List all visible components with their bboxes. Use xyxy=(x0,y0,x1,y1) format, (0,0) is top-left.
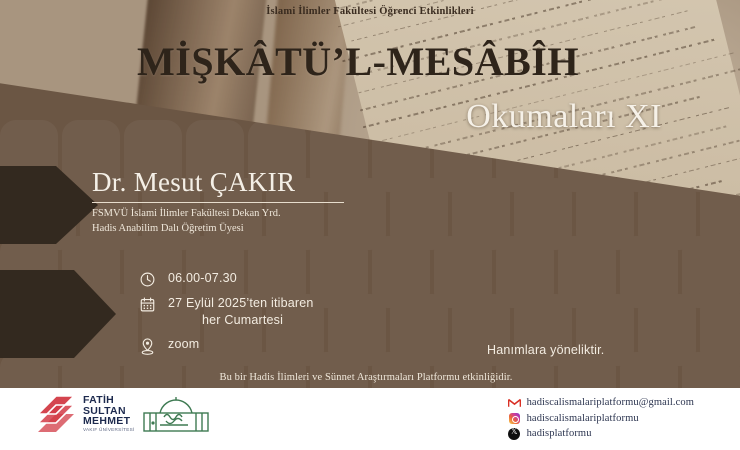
detail-row-date: 27 Eylül 2025’ten itibaren her Cumartesi xyxy=(134,295,314,329)
islamic-sciences-faculty-logo xyxy=(140,397,212,435)
contact-list: hadiscalismalariplatformu@gmail.com hadi… xyxy=(508,396,694,443)
contact-row-instagram[interactable]: hadiscalismalariplatformu xyxy=(508,412,694,425)
contact-x-text: hadisplatformu xyxy=(527,428,592,439)
contact-instagram-text: hadiscalismalariplatformu xyxy=(527,413,639,424)
clock-icon xyxy=(134,270,160,288)
detail-date-line2: her Cumartesi xyxy=(168,312,314,329)
poster-kicker: İslami İlimler Fakültesi Öğrenci Etkinli… xyxy=(0,6,740,17)
gmail-icon xyxy=(508,396,521,409)
contact-email-text: hadiscalismalariplatformu@gmail.com xyxy=(527,397,694,408)
speaker-role-line2: Hadis Anabilim Dalı Öğretim Üyesi xyxy=(92,222,392,237)
fsm-logo-line1: FATİH xyxy=(83,395,135,406)
speaker-divider xyxy=(92,202,344,203)
fsm-logo-mark xyxy=(34,394,76,434)
poster-subtitle: Okumaları XI xyxy=(466,98,662,136)
event-details-list: 06.00-07.30 27 Eylül 2025’ten itibaren h… xyxy=(134,270,314,363)
event-poster: İslami İlimler Fakültesi Öğrenci Etkinli… xyxy=(0,0,740,450)
contact-row-email[interactable]: hadiscalismalariplatformu@gmail.com xyxy=(508,396,694,409)
detail-date-line1: 27 Eylül 2025’ten itibaren xyxy=(168,296,314,310)
audience-note: Hanımlara yöneliktir. xyxy=(487,343,604,357)
page-title: MİŞKÂTÜ’L-MESÂBÎH xyxy=(0,38,740,85)
speaker-name: Dr. Mesut ÇAKIR xyxy=(92,168,392,198)
poster-footer: FATİH SULTAN MEHMET VAKIF ÜNİVERSİTESİ xyxy=(0,388,740,450)
detail-row-location: zoom xyxy=(134,336,314,356)
speaker-role-line1: FSMVÜ İslami İlimler Fakültesi Dekan Yrd… xyxy=(92,207,392,222)
detail-row-time: 06.00-07.30 xyxy=(134,270,314,288)
speaker-block: Dr. Mesut ÇAKIR FSMVÜ İslami İlimler Fak… xyxy=(92,168,392,237)
contact-row-x[interactable]: hadisplatformu xyxy=(508,427,694,440)
detail-location-text: zoom xyxy=(160,336,199,353)
fsm-logo-line3: MEHMET xyxy=(83,416,135,427)
platform-note: Bu bir Hadis İlimleri ve Sünnet Araştırm… xyxy=(0,372,740,383)
fsm-university-logo: FATİH SULTAN MEHMET VAKIF ÜNİVERSİTESİ xyxy=(34,394,135,434)
calendar-icon xyxy=(134,295,160,313)
location-pin-icon xyxy=(134,336,160,356)
detail-date-text: 27 Eylül 2025’ten itibaren her Cumartesi xyxy=(160,295,314,329)
fsm-logo-subtitle: VAKIF ÜNİVERSİTESİ xyxy=(83,428,135,433)
fsm-logo-text: FATİH SULTAN MEHMET VAKIF ÜNİVERSİTESİ xyxy=(83,395,135,433)
instagram-icon xyxy=(508,412,521,425)
detail-time-text: 06.00-07.30 xyxy=(160,270,237,287)
x-twitter-icon xyxy=(508,427,521,440)
